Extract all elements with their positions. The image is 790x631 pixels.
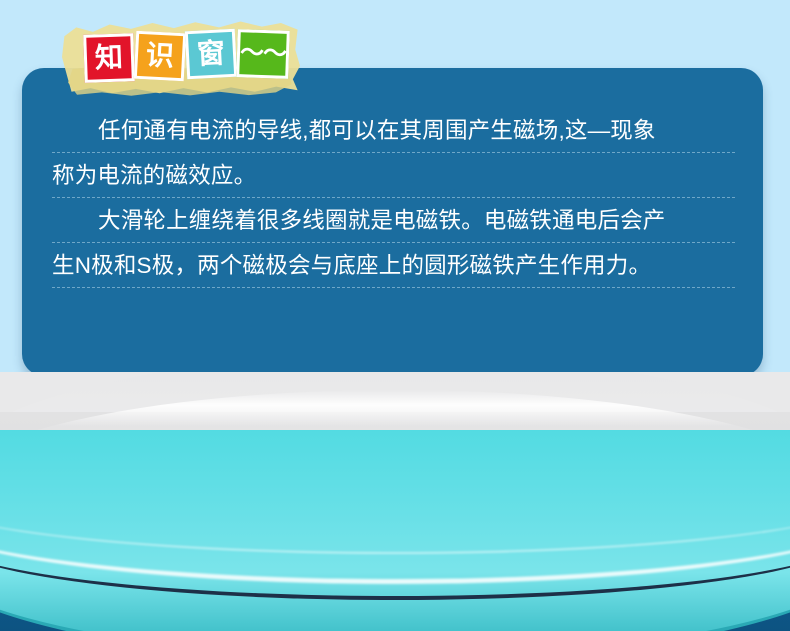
text-line-content: 任何通有电流的导线,都可以在其周围产生磁场,这—现象 <box>52 108 656 153</box>
panel-text-block: 任何通有电流的导线,都可以在其周围产生磁场,这—现象 称为电流的磁效应。 大滑轮… <box>52 108 735 288</box>
product-photo <box>0 372 790 631</box>
text-line: 称为电流的磁效应。 <box>52 153 735 198</box>
page-root: 任何通有电流的导线,都可以在其周围产生磁场,这—现象 称为电流的磁效应。 大滑轮… <box>0 0 790 631</box>
badge-tile-4: ～～ <box>236 29 290 79</box>
knowledge-window-badge: 知 识 窗 ～～ <box>62 16 300 98</box>
text-line: 任何通有电流的导线,都可以在其周围产生磁场,这—现象 <box>52 108 735 153</box>
badge-tile-1: 知 <box>83 33 135 83</box>
text-line-content: 称为电流的磁效应。 <box>52 153 256 198</box>
device-disc-edge <box>0 412 790 600</box>
knowledge-panel: 任何通有电流的导线,都可以在其周围产生磁场,这—现象 称为电流的磁效应。 大滑轮… <box>22 68 763 376</box>
text-line: 生N极和S极，两个磁极会与底座上的圆形磁铁产生作用力。 <box>52 243 735 288</box>
badge-tile-3: 窗 <box>185 29 237 80</box>
text-line-content: 生N极和S极，两个磁极会与底座上的圆形磁铁产生作用力。 <box>52 243 651 288</box>
dashed-rule <box>52 287 735 288</box>
text-line-content: 大滑轮上缠绕着很多线圈就是电磁铁。电磁铁通电后会产 <box>52 198 666 243</box>
badge-tile-2: 识 <box>134 31 186 82</box>
text-line: 大滑轮上缠绕着很多线圈就是电磁铁。电磁铁通电后会产 <box>52 198 735 243</box>
